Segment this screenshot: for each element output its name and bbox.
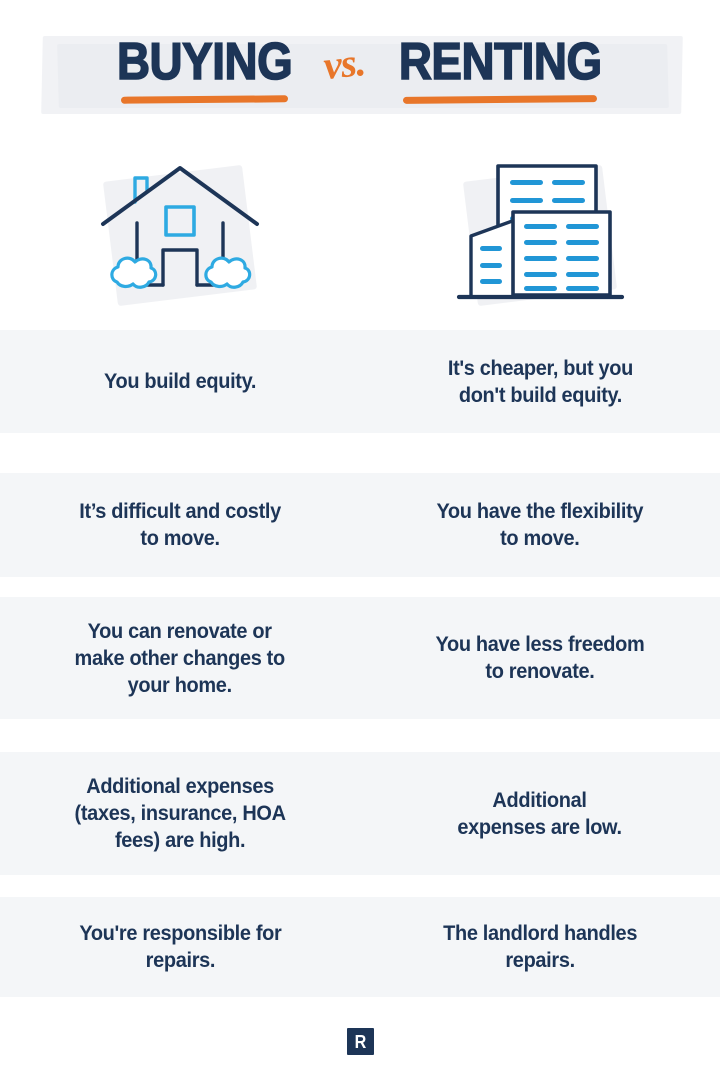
buying-text: You're responsible for repairs. [79,920,281,974]
renting-cell: It's cheaper, but you don't build equity… [360,330,720,433]
row-gap [0,577,720,597]
table-row: You build equity. It's cheaper, but you … [0,330,720,433]
buying-cell: You're responsible for repairs. [0,897,360,997]
row-gap [0,719,720,752]
apartment-building-icon [453,158,628,313]
ramsey-logo-letter: R [354,1033,366,1051]
renting-text: You have less freedom to renovate. [436,631,645,685]
renting-cell: Additional expenses are low. [360,752,720,875]
buying-text: You can renovate or make other changes t… [75,618,285,699]
footer: R [0,997,720,1086]
header-title-block: BUYING vs. RENTING [0,0,720,140]
table-row: You can renovate or make other changes t… [0,597,720,719]
title-underline-buying [121,95,288,103]
page-title: BUYING vs. RENTING [0,0,720,140]
renting-icon-cell [360,140,720,330]
title-vs-label: vs. [321,37,367,88]
buying-cell: It’s difficult and costly to move. [0,473,360,577]
title-word-renting: RENTING [385,35,616,105]
row-gap [0,433,720,473]
renting-text: Additional expenses are low. [458,787,622,841]
title-word-renting-label: RENTING [398,35,601,89]
renting-text: The landlord handles repairs. [443,920,637,974]
buying-cell: You can renovate or make other changes t… [0,597,360,719]
buying-text: It’s difficult and costly to move. [79,498,281,552]
renting-cell: The landlord handles repairs. [360,897,720,997]
buying-icon-cell [0,140,360,330]
comparison-table: You build equity. It's cheaper, but you … [0,330,720,997]
renting-cell: You have the flexibility to move. [360,473,720,577]
table-row: You're responsible for repairs. The land… [0,897,720,997]
table-row: Additional expenses (taxes, insurance, H… [0,752,720,875]
buying-cell: You build equity. [0,330,360,433]
row-gap [0,875,720,897]
renting-text: It's cheaper, but you don't build equity… [447,355,632,409]
title-underline-renting [403,95,597,104]
buying-text: Additional expenses (taxes, insurance, H… [74,773,285,854]
buying-cell: Additional expenses (taxes, insurance, H… [0,752,360,875]
title-word-buying: BUYING [105,35,304,105]
buying-text: You build equity. [104,368,256,395]
icons-row [0,140,720,330]
renting-cell: You have less freedom to renovate. [360,597,720,719]
title-word-buying-label: BUYING [117,35,292,89]
ramsey-logo-icon: R [347,1028,374,1055]
renting-text: You have the flexibility to move. [437,498,644,552]
house-icon [95,160,265,310]
table-row: It’s difficult and costly to move. You h… [0,473,720,577]
